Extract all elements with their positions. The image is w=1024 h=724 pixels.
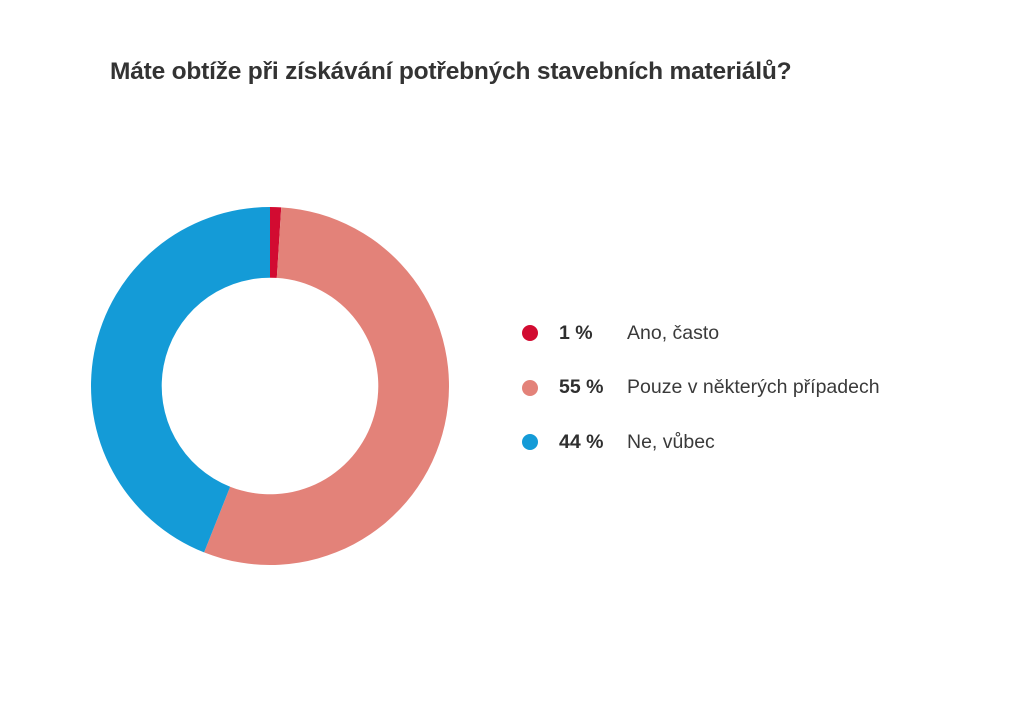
legend-label: Ne, vůbec: [627, 431, 962, 454]
donut-slices: [91, 207, 449, 565]
legend-dot-ne-vubec: [522, 434, 538, 450]
legend-dot-pouze-v-nekterych-pripadech: [522, 380, 538, 396]
donut-chart: [91, 207, 449, 565]
legend-item[interactable]: 1 %Ano, často: [522, 314, 962, 352]
chart-legend: 1 %Ano, často55 %Pouze v některých přípa…: [522, 314, 962, 461]
legend-label: Pouze v některých případech: [627, 376, 962, 399]
page-title: Máte obtíže při získávání potřebných sta…: [110, 58, 791, 86]
legend-percent: 44 %: [559, 431, 627, 454]
legend-label: Ano, často: [627, 322, 962, 345]
legend-percent: 1 %: [559, 322, 627, 345]
donut-chart-svg: [91, 207, 449, 565]
legend-item[interactable]: 55 %Pouze v některých případech: [522, 369, 962, 407]
legend-dot-ano-casto: [522, 325, 538, 341]
chart-page: Máte obtíže při získávání potřebných sta…: [0, 0, 1024, 724]
legend-percent: 55 %: [559, 376, 627, 399]
legend-item[interactable]: 44 %Ne, vůbec: [522, 423, 962, 461]
